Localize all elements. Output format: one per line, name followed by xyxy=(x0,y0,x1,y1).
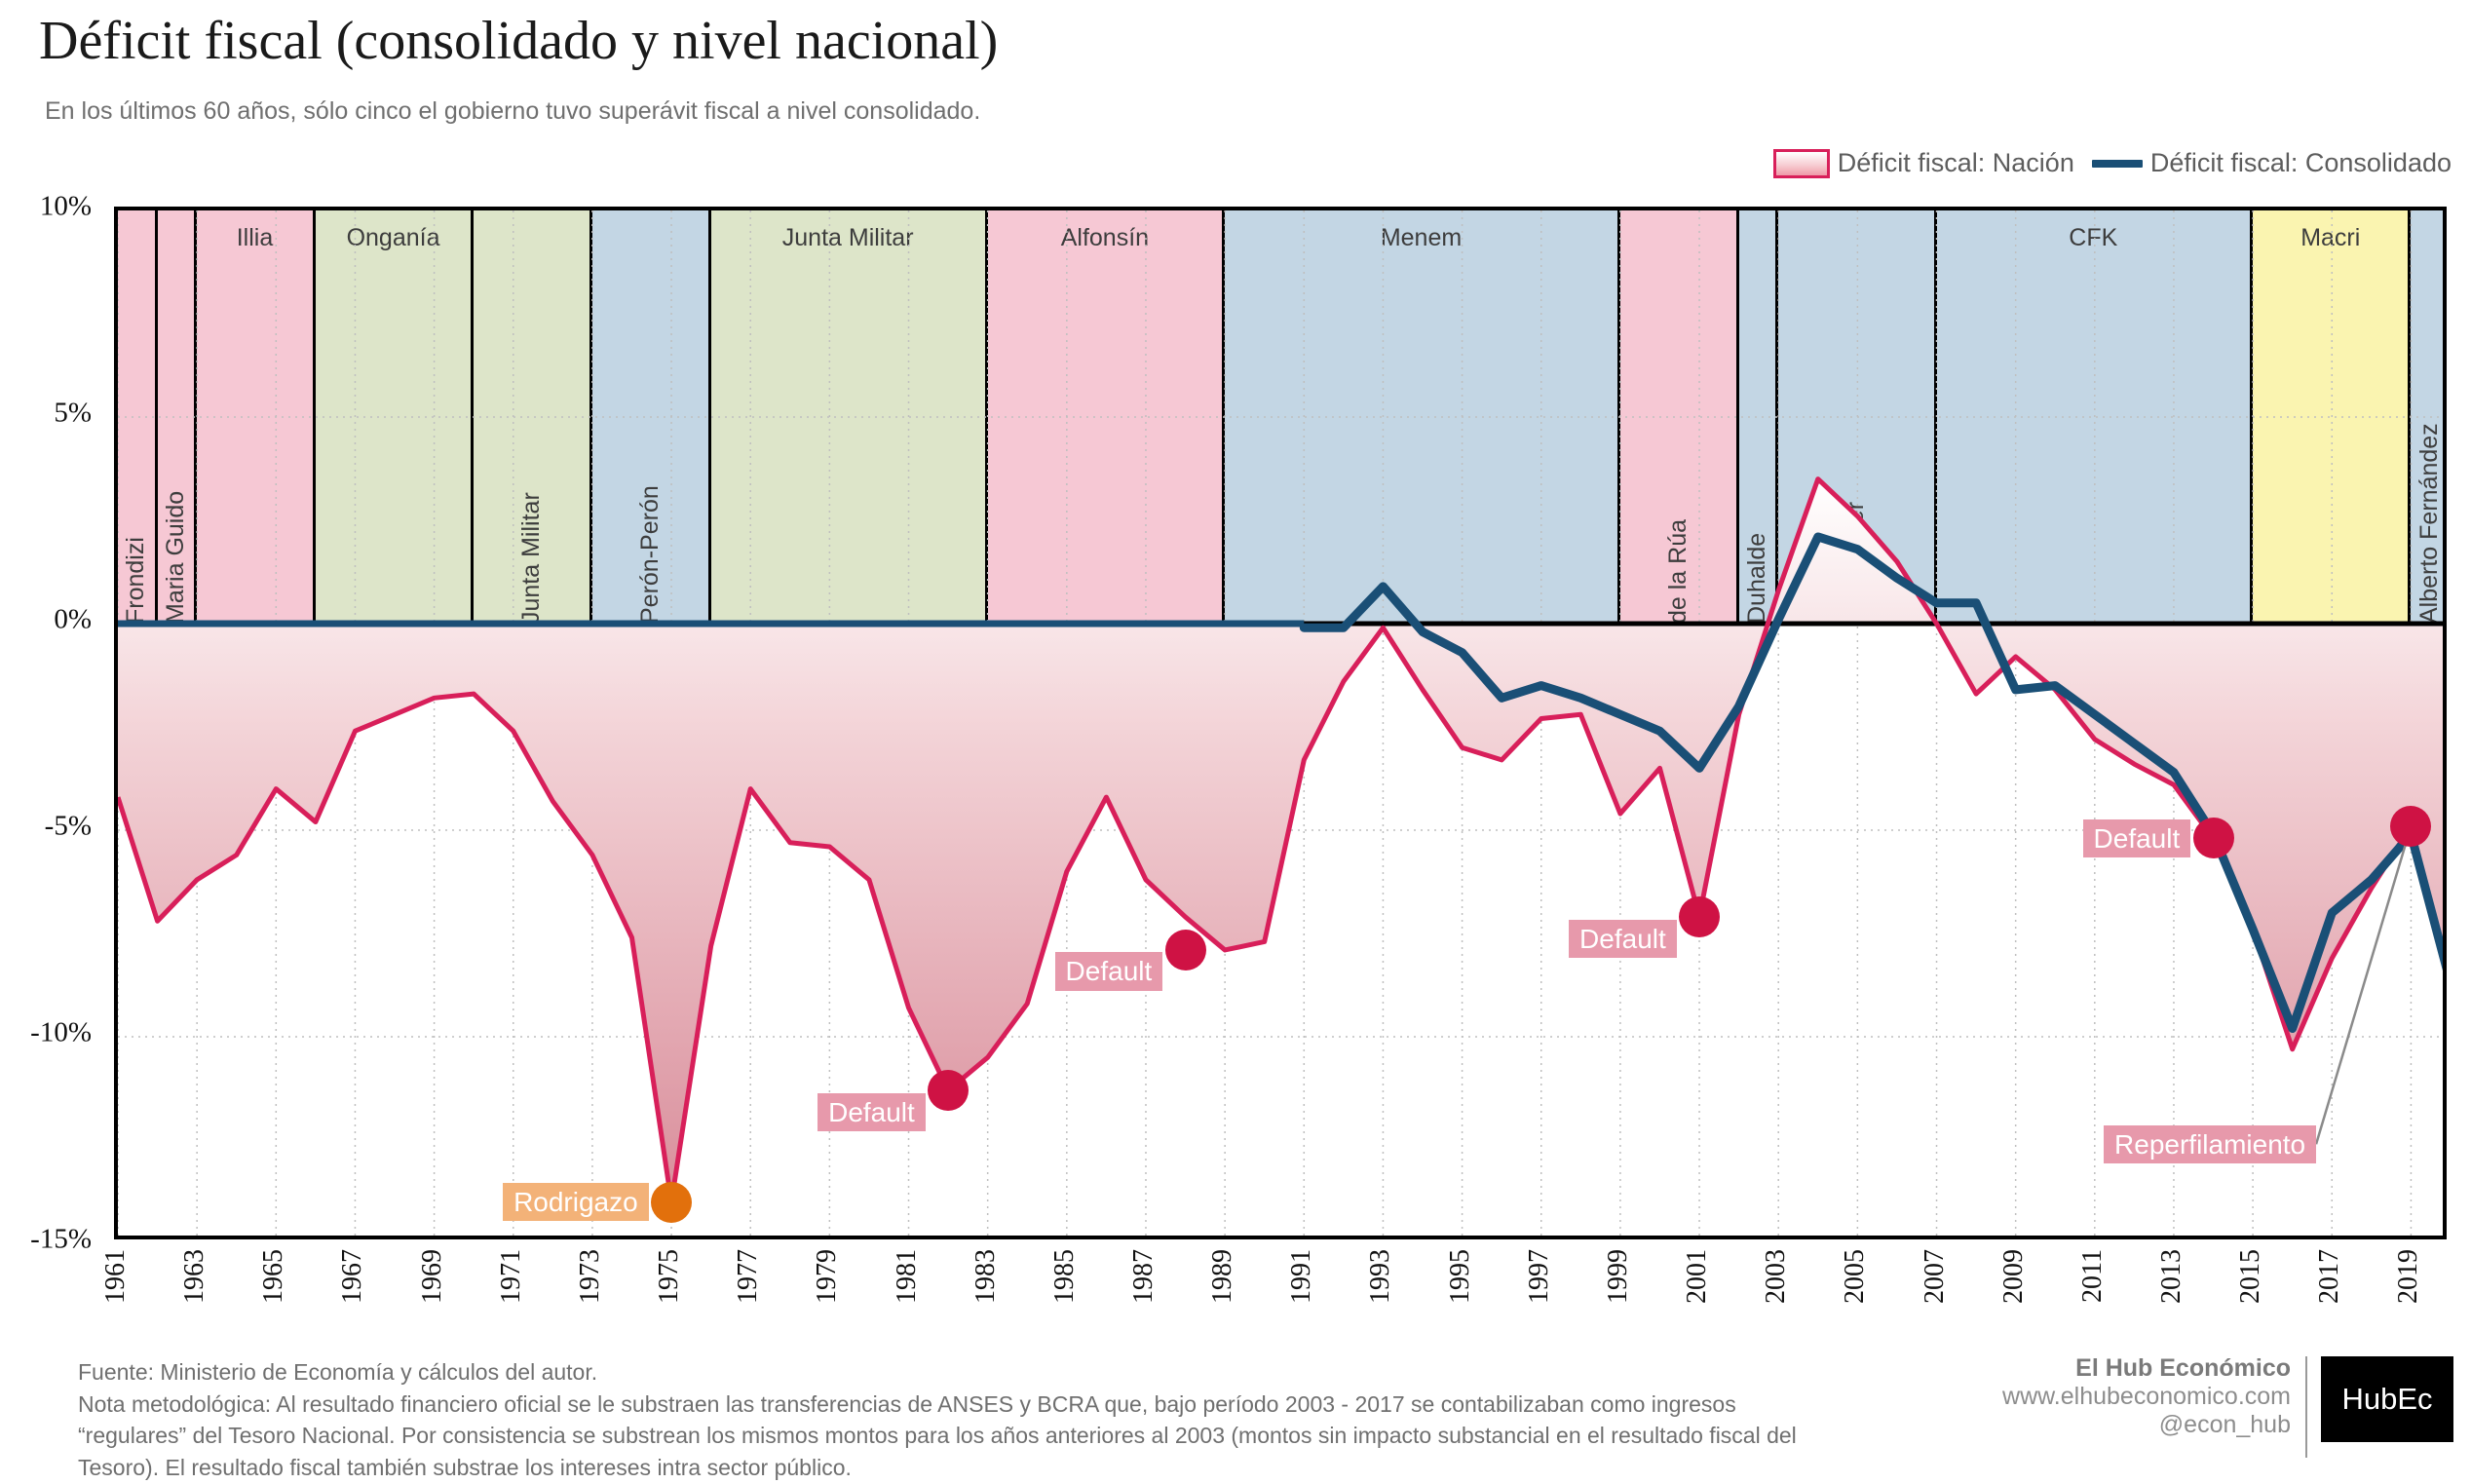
x-axis: 1961196319651967196919711973197519771979… xyxy=(114,1249,2447,1356)
x-tick-label: 1969 xyxy=(417,1249,448,1304)
annotation-label-default-2014: Default xyxy=(2083,819,2191,857)
y-tick-label: -15% xyxy=(30,1224,92,1256)
chart-page: Déficit fiscal (consolidado y nivel naci… xyxy=(0,0,2471,1460)
x-tick-label: 1967 xyxy=(337,1249,368,1304)
annotation-label-default-1982: Default xyxy=(817,1093,926,1131)
legend-label-consolidado: Déficit fiscal: Consolidado xyxy=(2150,148,2452,178)
x-tick-label: 1971 xyxy=(496,1249,527,1304)
x-tick-label: 1999 xyxy=(1603,1249,1634,1304)
legend-item-nacion[interactable]: Déficit fiscal: Nación xyxy=(1773,148,2074,178)
x-tick-label: 1973 xyxy=(575,1249,606,1304)
x-tick-label: 1989 xyxy=(1207,1249,1238,1304)
annotation-marker-default-2001[interactable] xyxy=(1679,896,1720,937)
chart-subtitle: En los últimos 60 años, sólo cinco el go… xyxy=(45,97,980,126)
x-tick-label: 2003 xyxy=(1761,1249,1792,1304)
x-tick-label: 1963 xyxy=(179,1249,210,1304)
footnote-note: Nota metodológica: Al resultado financie… xyxy=(78,1389,1832,1484)
logo: HubEc xyxy=(2321,1356,2453,1442)
line-swatch-icon xyxy=(2092,160,2143,168)
brand-site[interactable]: www.elhubeconomico.com xyxy=(2002,1383,2291,1411)
y-tick-label: 10% xyxy=(40,191,92,223)
brand-block: El Hub Económico www.elhubeconomico.com … xyxy=(2002,1354,2291,1439)
x-tick-label: 2009 xyxy=(1998,1249,2030,1304)
plot-area: FrondiziMaria GuidoIlliaOnganíaJunta Mil… xyxy=(114,207,2447,1239)
legend-label-nacion: Déficit fiscal: Nación xyxy=(1838,148,2074,178)
y-tick-label: -10% xyxy=(30,1017,92,1049)
chart-svg xyxy=(118,210,2443,1236)
annotation-marker-default-2014[interactable] xyxy=(2193,818,2234,858)
y-axis: 10%5%0%-5%-10%-15% xyxy=(0,207,101,1239)
x-tick-label: 2001 xyxy=(1682,1249,1713,1304)
plot-inner: FrondiziMaria GuidoIlliaOnganíaJunta Mil… xyxy=(118,210,2443,1236)
annotation-label-default-2001: Default xyxy=(1569,920,1677,958)
x-tick-label: 2011 xyxy=(2077,1249,2109,1303)
footnote-source: Fuente: Ministerio de Economía y cálculo… xyxy=(78,1356,1832,1389)
brand-divider xyxy=(2305,1356,2307,1458)
x-tick-label: 2017 xyxy=(2314,1249,2345,1304)
brand-handle[interactable]: @econ_hub xyxy=(2002,1411,2291,1439)
area-swatch-icon xyxy=(1773,149,1830,178)
x-tick-label: 1975 xyxy=(654,1249,685,1304)
brand-name: El Hub Económico xyxy=(2002,1354,2291,1383)
page-title: Déficit fiscal (consolidado y nivel naci… xyxy=(39,10,998,72)
x-tick-label: 1995 xyxy=(1445,1249,1476,1304)
x-tick-label: 1977 xyxy=(733,1249,764,1304)
x-tick-label: 1983 xyxy=(970,1249,1002,1304)
x-tick-label: 2015 xyxy=(2235,1249,2266,1304)
x-tick-label: 1991 xyxy=(1286,1249,1317,1304)
x-tick-label: 2005 xyxy=(1840,1249,1871,1304)
x-tick-label: 2013 xyxy=(2156,1249,2187,1304)
x-tick-label: 1981 xyxy=(892,1249,923,1304)
y-tick-label: 0% xyxy=(54,604,92,636)
annotation-label-reperfilamiento-2019: Reperfilamiento xyxy=(2104,1125,2316,1163)
x-tick-label: 1965 xyxy=(258,1249,289,1304)
annotation-marker-rodrigazo-1975[interactable] xyxy=(651,1182,692,1223)
annotation-marker-default-1982[interactable] xyxy=(928,1070,969,1111)
x-tick-label: 1993 xyxy=(1365,1249,1396,1304)
x-tick-label: 1997 xyxy=(1524,1249,1555,1304)
x-tick-label: 1987 xyxy=(1128,1249,1159,1304)
legend-item-consolidado[interactable]: Déficit fiscal: Consolidado xyxy=(2092,148,2452,178)
x-tick-label: 2007 xyxy=(1920,1249,1951,1304)
annotation-marker-default-1988[interactable] xyxy=(1165,930,1206,970)
x-tick-label: 1985 xyxy=(1049,1249,1081,1304)
x-tick-label: 1961 xyxy=(100,1249,132,1304)
x-tick-label: 1979 xyxy=(812,1249,843,1304)
footnote: Fuente: Ministerio de Economía y cálculo… xyxy=(78,1356,1832,1484)
x-tick-label: 2019 xyxy=(2393,1249,2424,1304)
annotation-marker-reperfilamiento-2019[interactable] xyxy=(2390,806,2431,847)
y-tick-label: 5% xyxy=(54,398,92,430)
chart-legend: Déficit fiscal: Nación Déficit fiscal: C… xyxy=(1773,148,2452,178)
annotation-label-rodrigazo-1975: Rodrigazo xyxy=(503,1183,649,1221)
annotation-label-default-1988: Default xyxy=(1055,952,1163,990)
y-tick-label: -5% xyxy=(45,811,92,843)
